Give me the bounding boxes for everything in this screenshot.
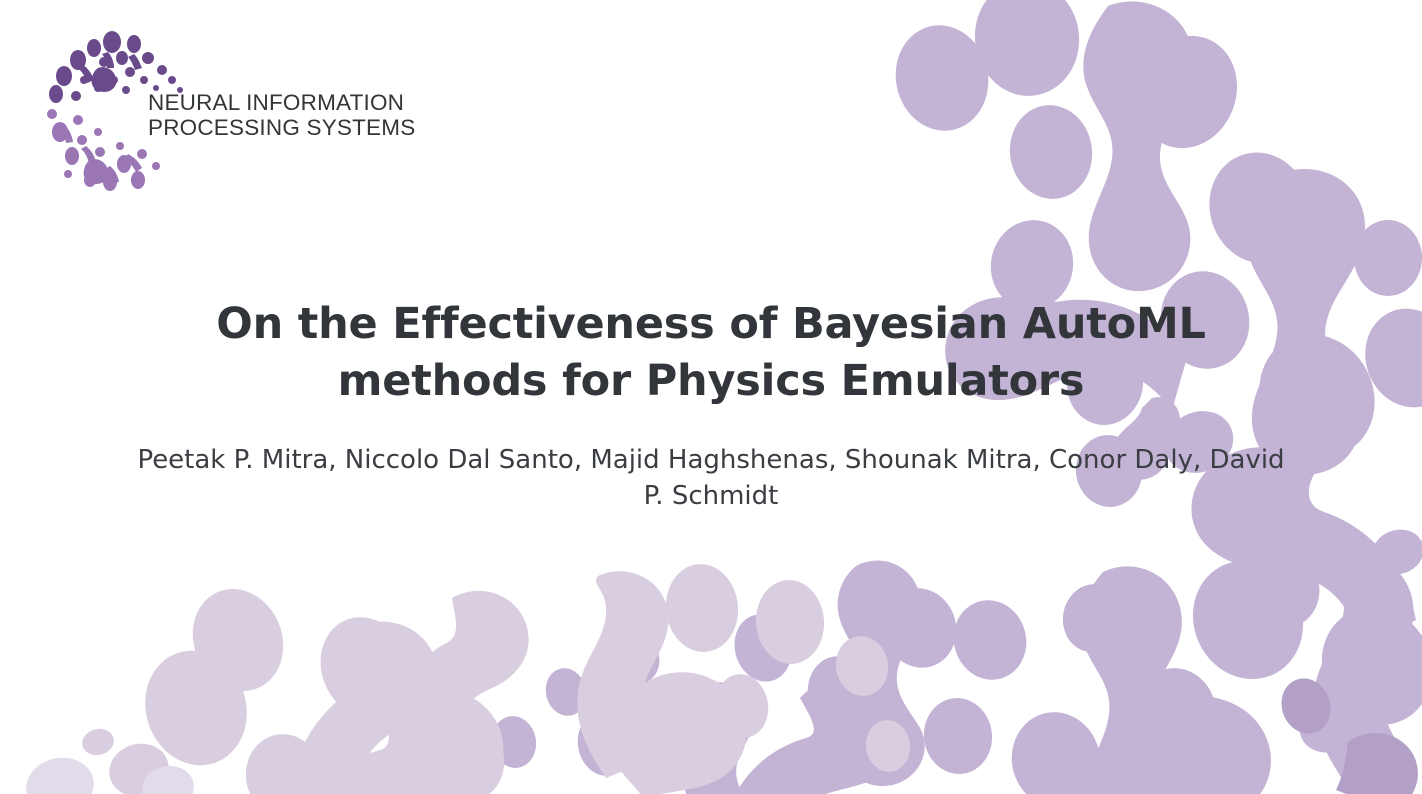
author-list: Peetak P. Mitra, Niccolo Dal Santo, Maji… bbox=[131, 443, 1291, 514]
page-title: On the Effectiveness of Bayesian AutoML … bbox=[206, 296, 1216, 410]
blob-group-bottom-left bbox=[79, 560, 913, 794]
neurips-logo-wordmark: NEURAL INFORMATION PROCESSING SYSTEMS bbox=[148, 90, 415, 140]
logo-wordmark-line-2: PROCESSING SYSTEMS bbox=[148, 115, 415, 140]
blob-group-bottom-center bbox=[488, 561, 997, 794]
blob-group-bottom-left-pale bbox=[21, 752, 198, 794]
blob-group-right-middle bbox=[1236, 523, 1422, 782]
title-block: On the Effectiveness of Bayesian AutoML … bbox=[0, 296, 1422, 514]
blob-group-bottom-right bbox=[944, 543, 1321, 794]
slide-canvas: NEURAL INFORMATION PROCESSING SYSTEMS On… bbox=[0, 0, 1422, 794]
logo-wordmark-line-1: NEURAL INFORMATION bbox=[148, 90, 415, 115]
blob-group-deep-accent bbox=[1274, 671, 1418, 794]
neurips-logo: NEURAL INFORMATION PROCESSING SYSTEMS bbox=[38, 28, 398, 200]
